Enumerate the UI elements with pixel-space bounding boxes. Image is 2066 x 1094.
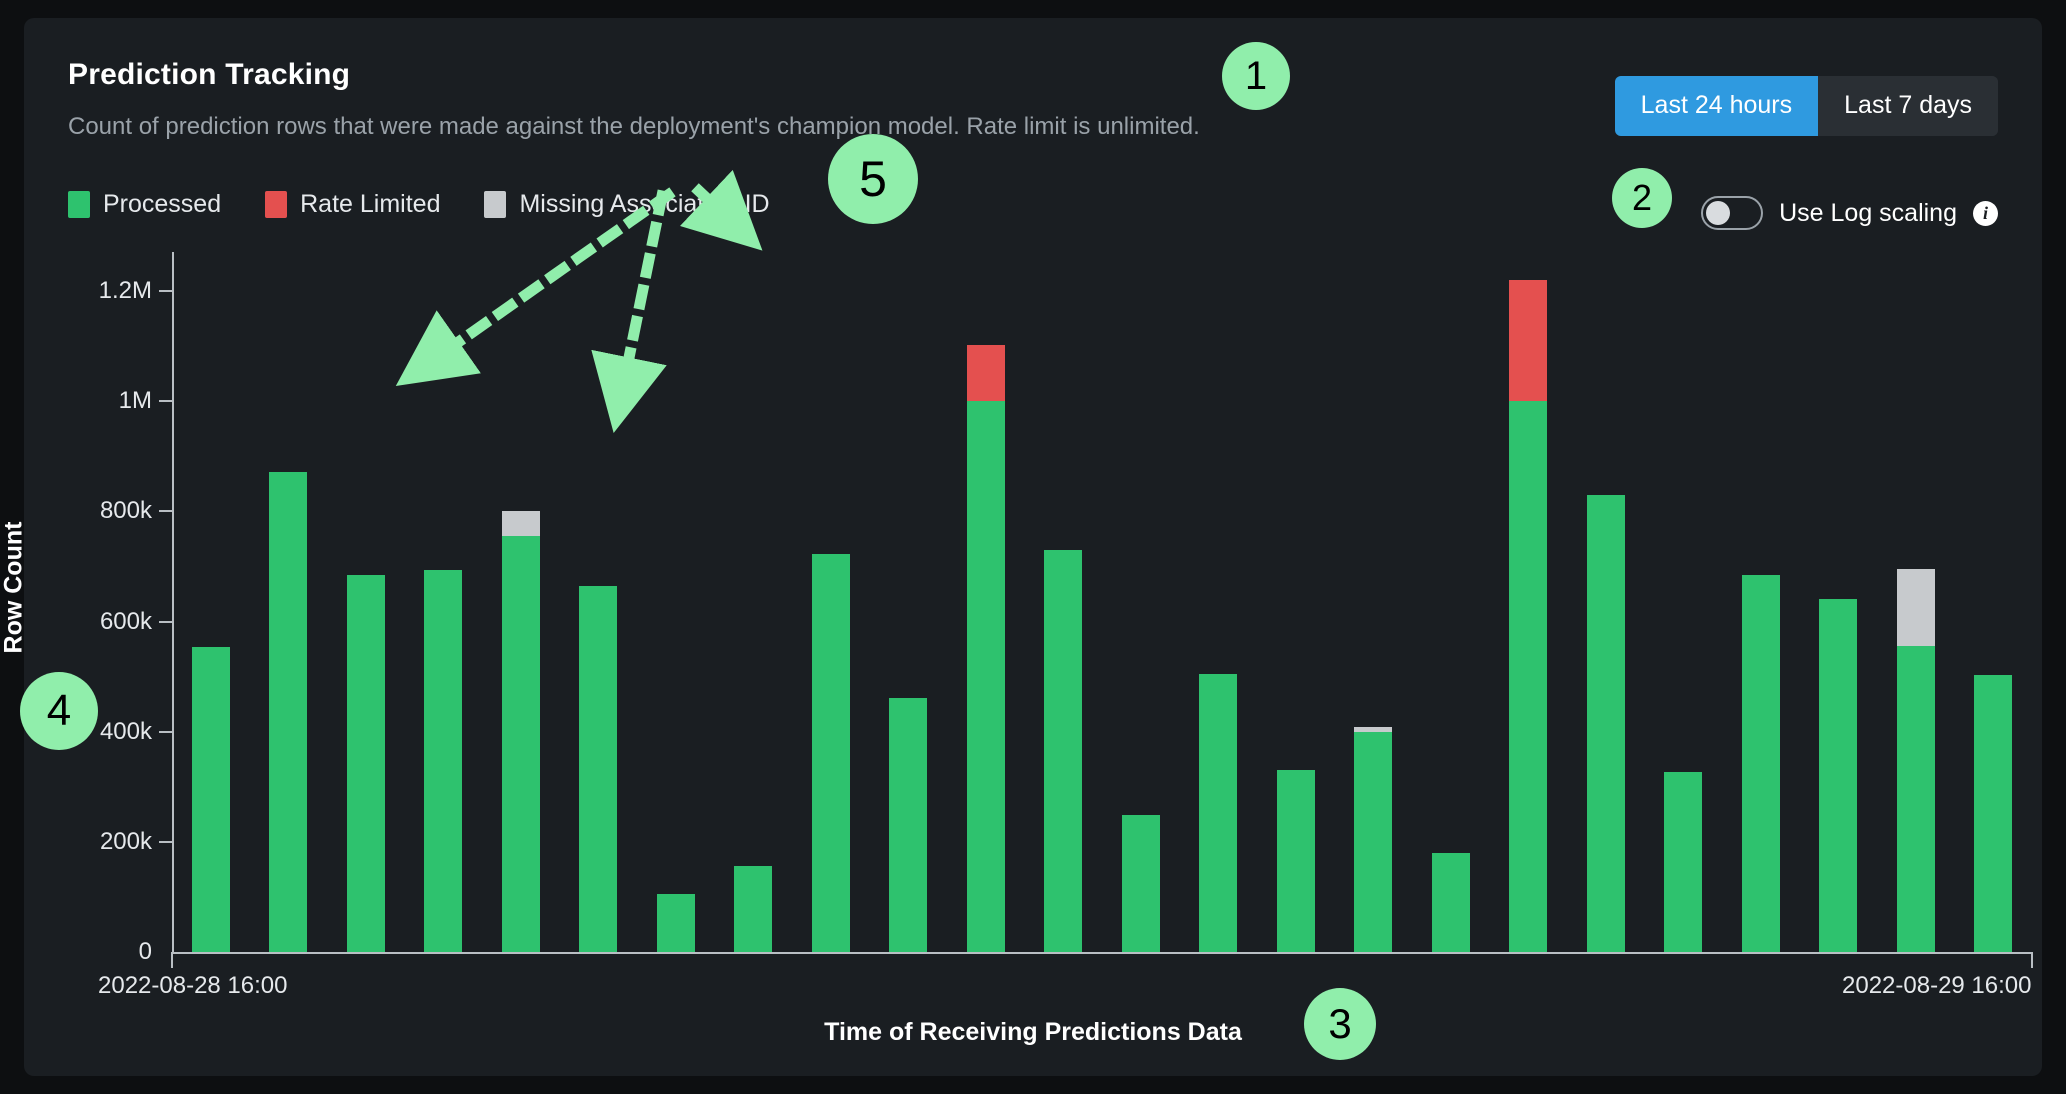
x-tick-mark	[2031, 952, 2033, 968]
bar-segment[interactable]	[424, 570, 462, 952]
y-tick-label: 1M	[119, 387, 152, 415]
x-axis-label: Time of Receiving Predictions Data	[24, 1018, 2042, 1047]
y-tick-mark	[159, 621, 172, 623]
y-tick-mark	[159, 290, 172, 292]
y-tick-label: 600k	[100, 608, 152, 636]
bar-segment[interactable]	[812, 554, 850, 952]
bar-segment[interactable]	[347, 575, 385, 952]
bar-segment[interactable]	[1354, 727, 1392, 732]
y-axis-label: Row Count	[0, 522, 29, 654]
y-tick-mark	[159, 841, 172, 843]
y-tick-mark	[159, 731, 172, 733]
y-tick-label: 1.2M	[99, 277, 152, 305]
y-tick-label: 0	[139, 938, 152, 966]
bar-segment[interactable]	[1587, 495, 1625, 952]
bar-segment[interactable]	[269, 472, 307, 952]
x-tick-label: 2022-08-29 16:00	[1842, 972, 2032, 1000]
bar-segment[interactable]	[502, 536, 540, 952]
bar-segment[interactable]	[1277, 770, 1315, 952]
bar-segment[interactable]	[1044, 550, 1082, 952]
bar-segment[interactable]	[192, 647, 230, 952]
x-tick-mark	[171, 952, 173, 968]
bar-segment[interactable]	[657, 894, 695, 952]
y-tick-label: 200k	[100, 828, 152, 856]
x-tick-label: 2022-08-28 16:00	[98, 972, 288, 1000]
y-tick-label: 800k	[100, 497, 152, 525]
prediction-tracking-panel: Prediction Tracking Count of prediction …	[24, 18, 2042, 1076]
bar-segment[interactable]	[1742, 575, 1780, 952]
bar-segment[interactable]	[1664, 772, 1702, 952]
bar-segment[interactable]	[967, 401, 1005, 952]
bar-segment[interactable]	[1199, 674, 1237, 952]
bar-segment[interactable]	[1354, 732, 1392, 952]
y-axis-line	[172, 252, 174, 954]
bar-segment[interactable]	[1122, 815, 1160, 952]
annotation-marker-1: 1	[1222, 42, 1290, 110]
annotation-marker-5: 5	[828, 134, 918, 224]
bar-segment[interactable]	[1974, 675, 2012, 952]
x-axis-line	[172, 952, 2032, 954]
bar-segment[interactable]	[967, 345, 1005, 401]
y-tick-mark	[159, 510, 172, 512]
annotation-marker-3: 3	[1304, 988, 1376, 1060]
bar-chart: Row Count Time of Receiving Predictions …	[24, 18, 2042, 1076]
bar-segment[interactable]	[1819, 599, 1857, 952]
bar-segment[interactable]	[1509, 280, 1547, 401]
bar-segment[interactable]	[1509, 401, 1547, 952]
annotation-marker-4: 4	[20, 672, 98, 750]
annotation-marker-2: 2	[1612, 168, 1672, 228]
bar-segment[interactable]	[889, 698, 927, 952]
y-tick-label: 400k	[100, 718, 152, 746]
bar-segment[interactable]	[734, 866, 772, 952]
bar-segment[interactable]	[579, 586, 617, 952]
bar-segment[interactable]	[502, 511, 540, 536]
y-tick-mark	[159, 400, 172, 402]
bar-segment[interactable]	[1897, 569, 1935, 646]
bar-segment[interactable]	[1897, 646, 1935, 952]
bar-segment[interactable]	[1432, 853, 1470, 952]
